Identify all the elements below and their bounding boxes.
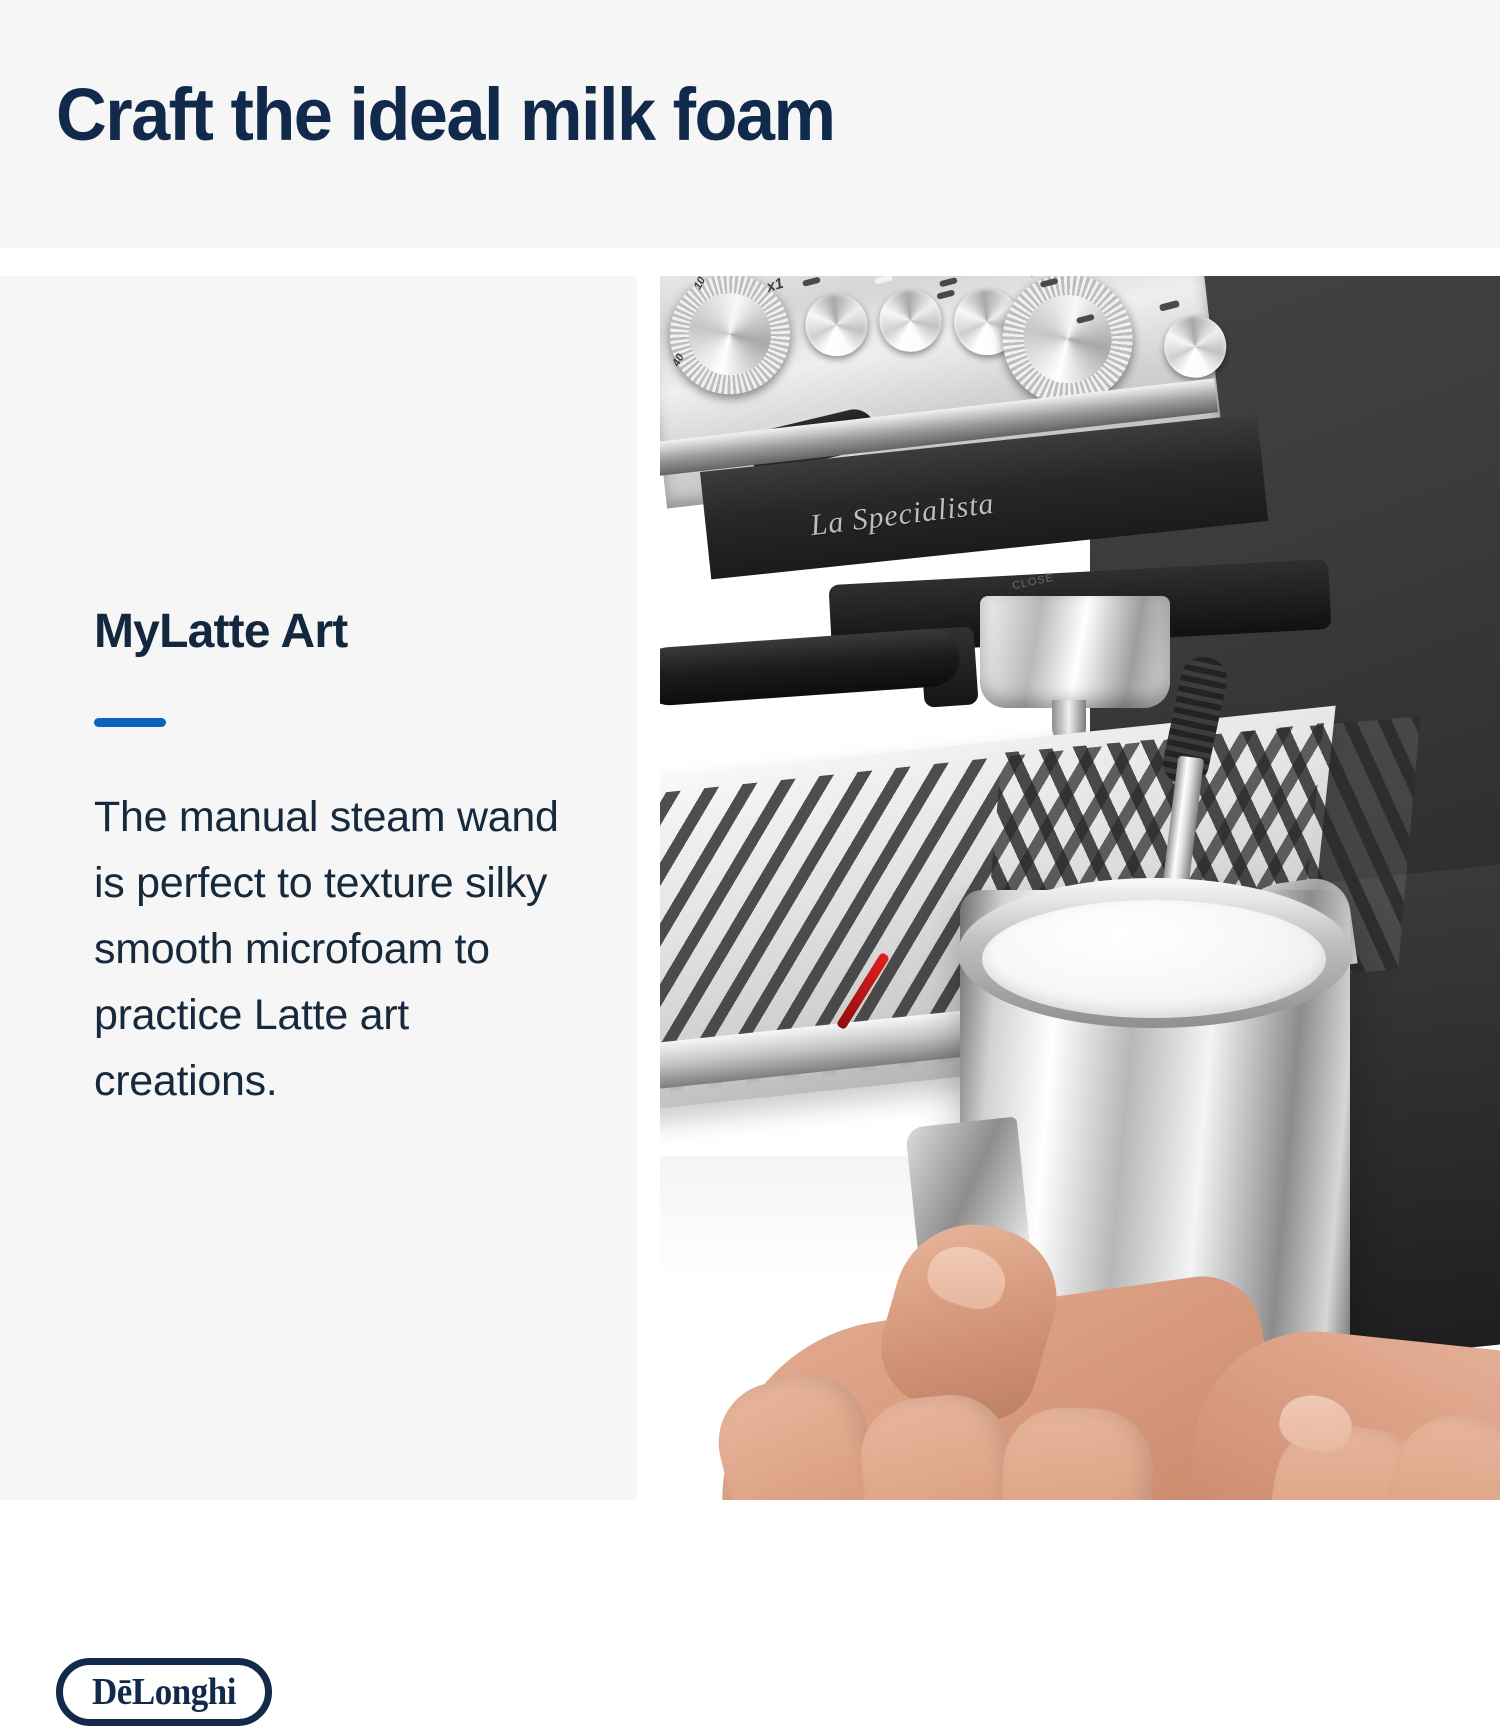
ok-button[interactable] [876, 286, 945, 355]
led-indicator [874, 276, 893, 285]
feature-text-panel: MyLatte Art The manual steam wand is per… [0, 276, 637, 1500]
led-indicator [939, 277, 958, 287]
accent-divider [94, 718, 166, 727]
header-band: Craft the ideal milk foam [0, 0, 1500, 248]
feature-description: The manual steam wand is perfect to text… [94, 784, 564, 1114]
product-photo: x1 OK 10 40 Espresso Long block Hot wate… [660, 276, 1500, 1500]
panel-label-x1: x1 [765, 276, 786, 296]
led-indicator [802, 277, 821, 287]
feature-heading: MyLatte Art [94, 604, 347, 660]
grind-size-dial[interactable] [663, 276, 796, 401]
portafilter-basket [980, 596, 1170, 708]
infographic-page: Craft the ideal milk foam MyLatte Art Th… [0, 0, 1500, 1500]
delonghi-logo: DēLonghi [56, 1658, 272, 1726]
delonghi-logo-text: DēLonghi [71, 1665, 257, 1719]
led-indicator [1159, 300, 1180, 312]
dose-button[interactable] [802, 291, 871, 360]
product-photo-scene: x1 OK 10 40 Espresso Long block Hot wate… [660, 276, 1500, 1500]
portafilter-handle[interactable] [660, 627, 962, 707]
milk-foam [982, 900, 1326, 1018]
page-title: Craft the ideal milk foam [56, 72, 834, 158]
led-indicator [936, 289, 955, 299]
panel-label-ok: OK [835, 276, 865, 281]
